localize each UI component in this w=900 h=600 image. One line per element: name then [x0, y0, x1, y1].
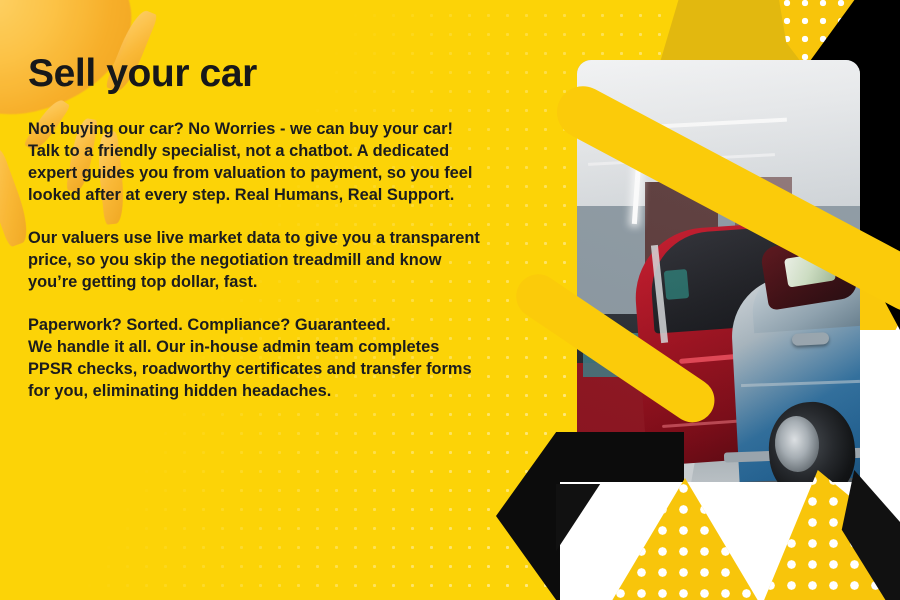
sell-your-car-poster: Sell your car Not buying our car? No Wor… [0, 0, 900, 600]
body-paragraph-3: Paperwork? Sorted. Compliance? Guarantee… [28, 315, 558, 403]
page-title: Sell your car [28, 54, 558, 93]
poster-copy: Sell your car Not buying our car? No Wor… [28, 54, 558, 403]
body-paragraph-1: Not buying our car? No Worries - we can … [28, 119, 558, 207]
body-paragraph-2: Our valuers use live market data to give… [28, 228, 558, 294]
